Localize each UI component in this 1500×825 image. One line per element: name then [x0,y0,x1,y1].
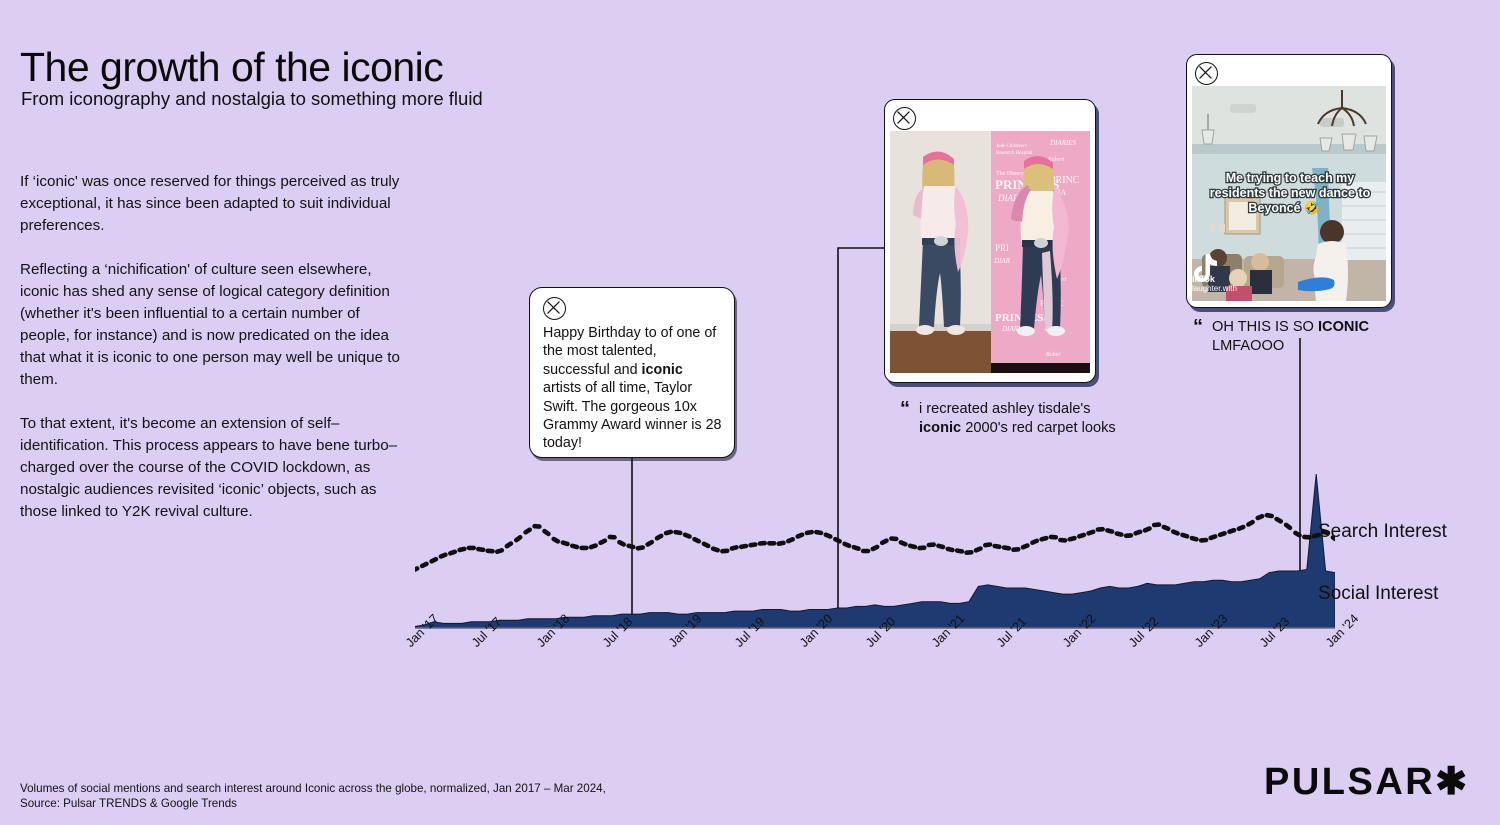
svg-text:Beyoncé 🤣: Beyoncé 🤣 [1248,200,1319,216]
svg-text:ikTok: ikTok [1192,274,1216,284]
social-interest-area [415,474,1335,628]
tweet-text-after: artists of all time, Taylor Swift. The g… [543,380,722,451]
body-copy: If ‘iconic' was once reserved for things… [20,171,400,545]
svg-text:DIARIES: DIARIES [1049,139,1077,147]
footer-source-note: Volumes of social mentions and search in… [20,781,606,811]
tiktok-caption-before: OH THIS IS SO [1212,319,1318,335]
infographic-canvas: The growth of the iconic From iconograph… [0,0,1500,825]
svg-text:Me trying to teach my: Me trying to teach my [1226,171,1355,185]
tisdale-card-header [890,105,1090,131]
x-logo-icon [543,297,566,320]
search-interest-dots [415,515,1335,570]
tweet-text-before: Happy Birthday to of one of the most tal… [543,325,716,378]
x-logo-icon [1195,62,1218,85]
tisdale-media-card[interactable]: Jude Children's Research Hospital DIARIE… [884,99,1096,383]
legend-search-interest: Search Interest [1318,521,1447,543]
svg-text:Research Hospital: Research Hospital [996,151,1033,156]
svg-text:Jude Children's: Jude Children's [996,144,1027,149]
tiktok-video-frame: ACTIVITIES [1192,86,1386,301]
svg-text:laughter.with: laughter.with [1192,284,1237,293]
tisdale-caption-bold: iconic [919,420,961,436]
footer-note-line-1: Volumes of social mentions and search in… [20,781,606,796]
tiktok-caption: “OH THIS IS SO ICONIC LMFAOOO [1212,318,1427,355]
quote-mark-icon: “ [900,404,910,414]
body-paragraph-3: To that extent, it's become an extension… [20,413,400,523]
body-paragraph-2: Reflecting a ‘nichification' of culture … [20,259,400,391]
footer-note-line-2: Source: Pulsar TRENDS & Google Trends [20,796,606,811]
svg-text:residents the new dance to: residents the new dance to [1210,186,1371,200]
tisdale-photo: Jude Children's Research Hospital DIARIE… [890,131,1090,373]
pulsar-logo: PULSAR✱ [1264,762,1470,802]
chart-svg [415,470,1335,635]
chart-area [415,470,1335,635]
svg-text:PRI: PRI [995,243,1009,253]
svg-text:Rober: Rober [1045,352,1061,358]
svg-text:DIAR: DIAR [993,257,1011,265]
tweet-callout-card[interactable]: Happy Birthday to of one of the most tal… [529,287,735,458]
tiktok-media-card[interactable]: ACTIVITIES [1186,54,1392,308]
body-paragraph-1: If ‘iconic' was once reserved for things… [20,171,400,237]
tiktok-card-header [1192,60,1386,86]
tiktok-caption-bold: ICONIC [1318,319,1369,335]
page-title: The growth of the iconic [20,44,443,90]
legend-social-interest: Social Interest [1318,583,1438,605]
page-subtitle: From iconography and nostalgia to someth… [21,88,483,110]
tiktok-caption-after: LMFAOOO [1212,338,1284,354]
tisdale-caption-before: i recreated ashley tisdale's [919,401,1091,417]
tweet-text-bold: iconic [642,362,683,378]
tisdale-caption: “i recreated ashley tisdale's iconic 200… [919,400,1134,437]
svg-text:PRINC: PRINC [1050,175,1080,186]
tweet-text: Happy Birthday to of one of the most tal… [543,324,722,453]
x-logo-icon [893,107,916,130]
quote-mark-icon: “ [1193,322,1203,332]
tisdale-caption-after: 2000's red carpet looks [961,420,1116,436]
